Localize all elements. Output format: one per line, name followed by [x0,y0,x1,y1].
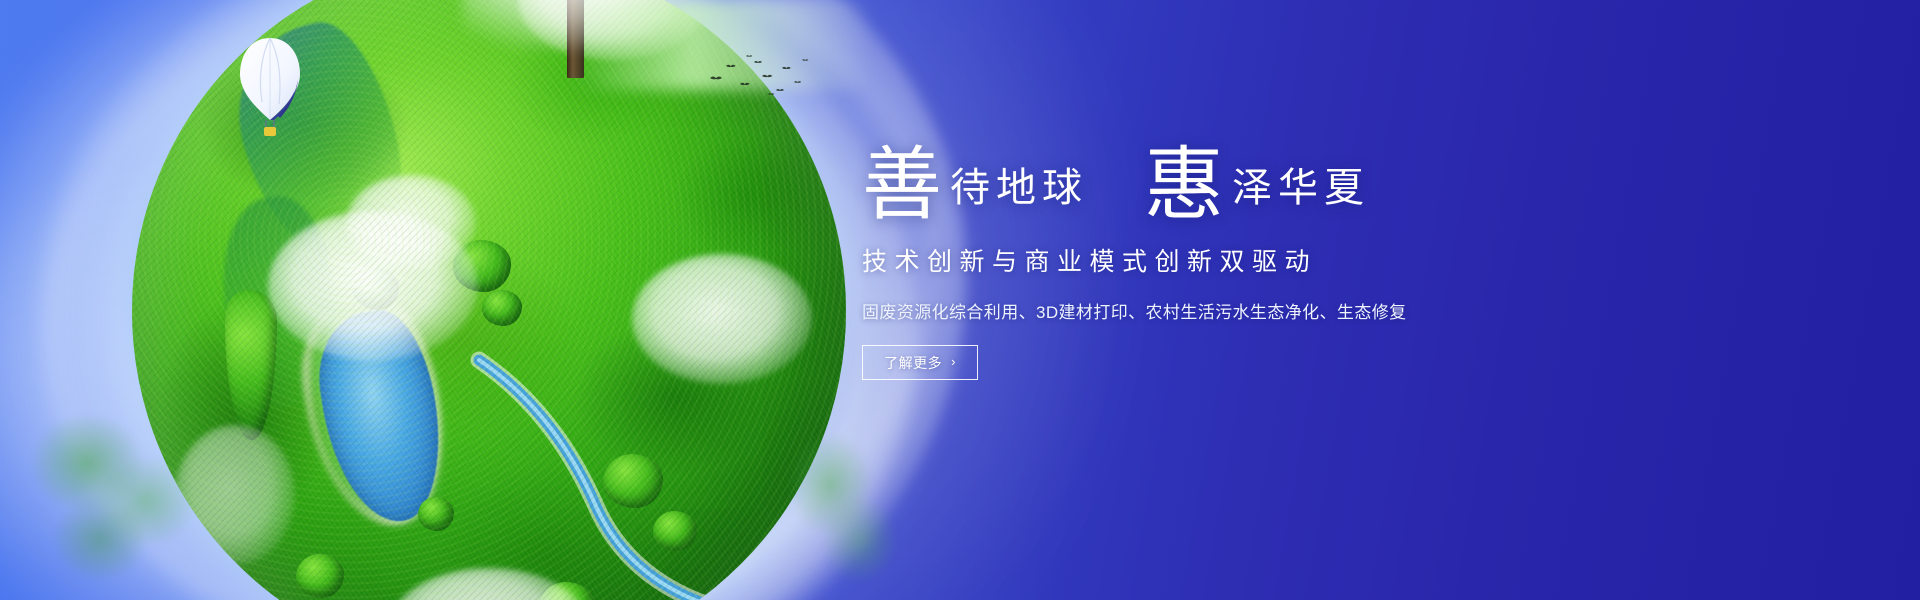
bush-icon [482,290,522,326]
lake-icon [309,304,453,531]
headline-text-zehuaxia: 泽华夏 [1232,168,1370,208]
banner-text-block: 善 待地球 惠 泽华夏 技术创新与商业模式创新双驱动 固废资源化综合利用、3D建… [862,128,1562,380]
bush-icon [296,554,344,598]
bush-icon [418,497,454,531]
foreground-foliage-right [764,404,914,600]
bush-icon [653,511,697,551]
banner-subtitle: 技术创新与商业模式创新双驱动 [862,242,1562,278]
headline-char-shan: 善 [862,146,942,226]
headline-char-hui: 惠 [1144,146,1224,226]
headline-text-daiqiu: 待地球 [950,168,1088,208]
learn-more-label: 了解更多 [884,353,942,373]
cloud-icon [632,254,812,384]
bush-icon [453,240,511,292]
bush-icon [225,290,277,440]
birds-flock-icon [706,52,816,102]
learn-more-button[interactable]: 了解更多 › [862,345,978,380]
cloud-icon [518,0,708,60]
lake-shoreline [290,288,456,536]
foreground-foliage-left [16,392,226,600]
bush-icon [539,582,595,600]
cloud-icon [268,211,478,361]
banner-headline: 善 待地球 惠 泽华夏 [862,128,1562,220]
banner-description: 固废资源化综合利用、3D建材打印、农村生活污水生态净化、生态修复 [862,298,1562,323]
hero-banner: 善 待地球 惠 泽华夏 技术创新与商业模式创新双驱动 固废资源化综合利用、3D建… [0,0,1920,600]
bush-icon [353,268,399,310]
bush-icon [603,454,663,508]
cloud-icon [346,175,476,270]
chevron-right-icon: › [951,355,956,368]
hot-air-balloon-icon [238,36,302,140]
cloud-icon [389,568,589,600]
mountain-ridge-2-icon [211,190,349,413]
